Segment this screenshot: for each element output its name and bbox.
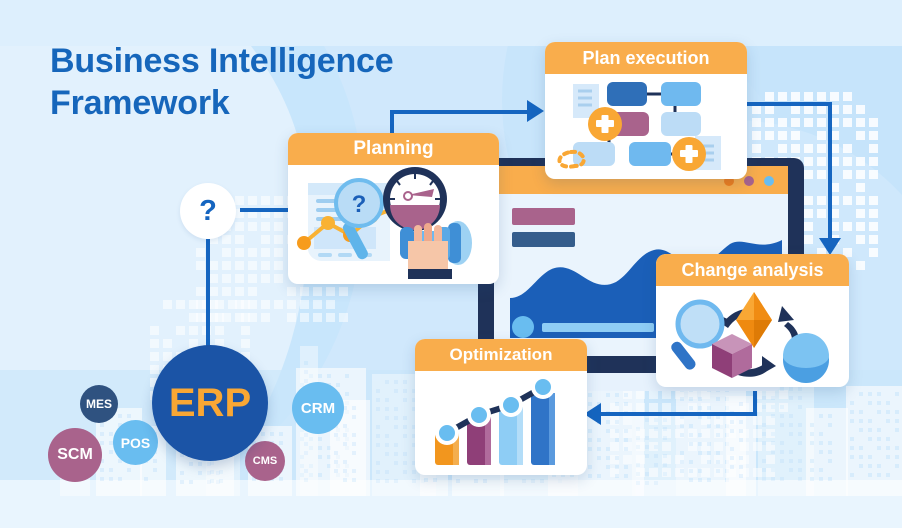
node-mes[interactable]: MES [80, 385, 118, 423]
card-change-analysis[interactable]: Change analysis [656, 254, 849, 387]
arrow-to-planexec-icon [527, 100, 544, 122]
window-dot-blue-icon [764, 176, 774, 186]
plus-button-icon-1 [588, 107, 622, 141]
connector-planning-to-planexec [390, 110, 535, 114]
node-scm[interactable]: SCM [48, 428, 102, 482]
card-planning-illustration: ? [288, 165, 499, 284]
card-optimization-illustration [415, 371, 587, 475]
dashed-loop-icon [559, 152, 575, 167]
node-crm-label: CRM [301, 400, 335, 417]
planning-illustration-svg: ? [288, 165, 499, 284]
node-mes-label: MES [86, 397, 112, 411]
connector-planexec-right [744, 102, 832, 106]
question-node-label: ? [199, 195, 217, 228]
node-crm[interactable]: CRM [292, 382, 344, 434]
card-optimization-title: Optimization [415, 339, 587, 371]
card-change-analysis-title: Change analysis [656, 254, 849, 286]
arrow-to-change-icon [819, 238, 841, 255]
sphere-icon [783, 333, 829, 383]
dashboard-chip-purple [512, 208, 575, 225]
connector-question-to-erp [206, 239, 210, 357]
flow-node-darkblue [607, 82, 647, 106]
gauge-icon [383, 167, 447, 231]
dashboard-progress-pill [542, 323, 654, 332]
card-change-analysis-illustration [656, 286, 849, 387]
plus-button-icon-2 [672, 137, 706, 171]
optimization-bar-chart-svg [415, 371, 587, 475]
dashboard-avatar-circle [512, 316, 534, 338]
card-plan-execution[interactable]: Plan execution [545, 42, 747, 179]
card-optimization[interactable]: Optimization [415, 339, 587, 475]
node-cms[interactable]: CMS [245, 441, 285, 481]
card-planning[interactable]: Planning [288, 133, 499, 284]
card-plan-execution-title: Plan execution [545, 42, 747, 74]
card-planning-title: Planning [288, 133, 499, 165]
node-pos-label: POS [121, 435, 151, 451]
node-erp[interactable]: ERP [152, 345, 268, 461]
node-scm-label: SCM [57, 446, 93, 464]
card-plan-execution-illustration [545, 74, 747, 179]
change-analysis-svg [656, 286, 849, 387]
node-cms-label: CMS [253, 455, 277, 467]
question-node[interactable]: ? [180, 183, 236, 239]
node-pos[interactable]: POS [113, 420, 158, 465]
infographic-canvas: Business Intelligence Framework ? [0, 0, 902, 528]
flowchart-illustration-svg [545, 74, 747, 179]
flow-node-lightblue-1 [661, 82, 701, 106]
trend-line [447, 387, 543, 433]
connector-planexec-down [828, 102, 832, 242]
node-erp-label: ERP [169, 381, 251, 426]
svg-text:?: ? [352, 191, 367, 218]
connector-change-to-optim [600, 412, 757, 416]
flow-node-pale-1 [661, 112, 701, 136]
flow-node-lightblue-2 [629, 142, 671, 166]
